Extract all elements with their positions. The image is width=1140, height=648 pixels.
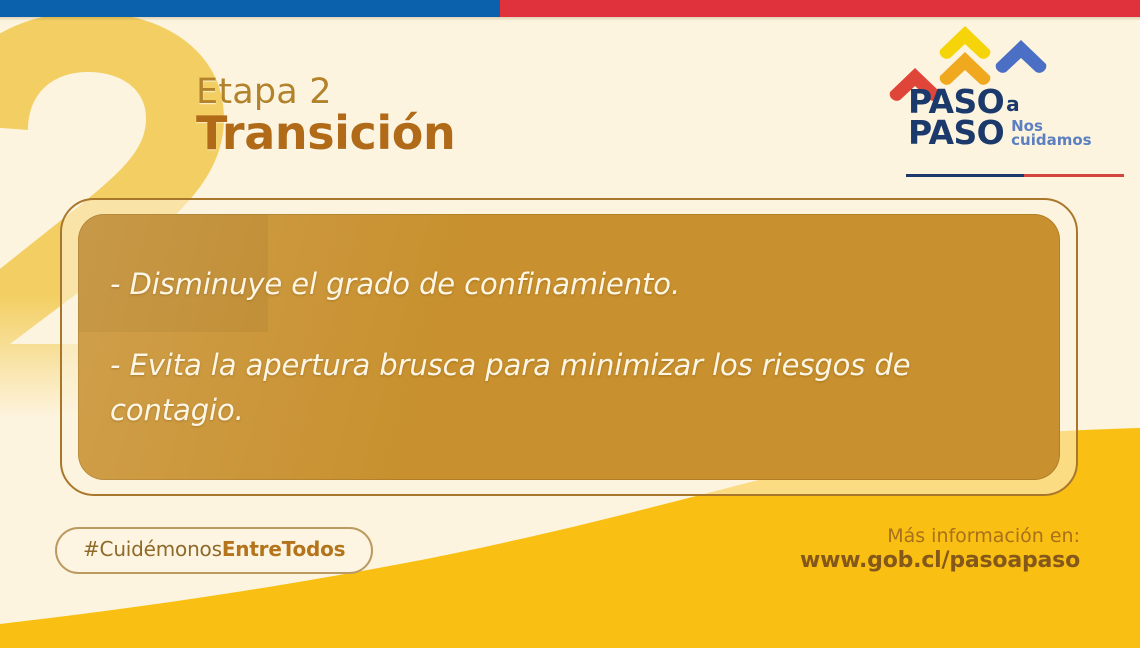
hashtag-badge: #CuidémonosEntreTodos bbox=[55, 527, 373, 574]
paso-a-paso-logo: PASO a PASO Nos cuidamos bbox=[880, 24, 1126, 174]
list-item: - Disminuye el grado de confinamiento. bbox=[110, 262, 1018, 307]
hashtag-bold: EntreTodos bbox=[222, 537, 346, 561]
page-title: Transición bbox=[196, 108, 455, 158]
chevron-blue-icon bbox=[992, 38, 1050, 74]
logo-word-a: a bbox=[1006, 94, 1020, 114]
top-bar-blue-band bbox=[0, 0, 500, 17]
more-info-label: Más información en: bbox=[800, 524, 1080, 548]
logo-wordmark: PASO a PASO Nos cuidamos bbox=[908, 86, 1092, 148]
logo-word-paso-bottom: PASO bbox=[908, 117, 1004, 148]
logo-line-bottom: PASO Nos cuidamos bbox=[908, 117, 1092, 148]
logo-rule-red bbox=[1024, 174, 1124, 177]
chevron-orange-icon bbox=[936, 50, 994, 86]
hashtag-prefix: #Cuidémonos bbox=[83, 537, 222, 561]
logo-rule-navy bbox=[906, 174, 1024, 177]
top-bar-shadow bbox=[0, 17, 1140, 21]
list-item: - Evita la apertura brusca para minimiza… bbox=[110, 343, 1018, 433]
logo-tagline-line-2: cuidamos bbox=[1011, 133, 1091, 147]
page-title-block: Etapa 2 Transición bbox=[196, 74, 455, 158]
hashtag-text: #CuidémonosEntreTodos bbox=[83, 537, 345, 561]
logo-tagline: Nos cuidamos bbox=[1011, 119, 1091, 147]
top-color-bar bbox=[0, 0, 1140, 17]
top-bar-red-band bbox=[500, 0, 1140, 17]
content-card: - Disminuye el grado de confinamiento. -… bbox=[78, 214, 1060, 480]
paso-a-paso-stage-2-slide: Etapa 2 Transición bbox=[0, 0, 1140, 648]
content-card-text: - Disminuye el grado de confinamiento. -… bbox=[78, 214, 1060, 433]
more-info-url[interactable]: www.gob.cl/pasoapaso bbox=[800, 548, 1080, 574]
logo-underline-rule bbox=[906, 174, 1124, 177]
stage-label: Etapa 2 bbox=[196, 74, 455, 110]
more-info-block: Más información en: www.gob.cl/pasoapaso bbox=[800, 524, 1080, 574]
